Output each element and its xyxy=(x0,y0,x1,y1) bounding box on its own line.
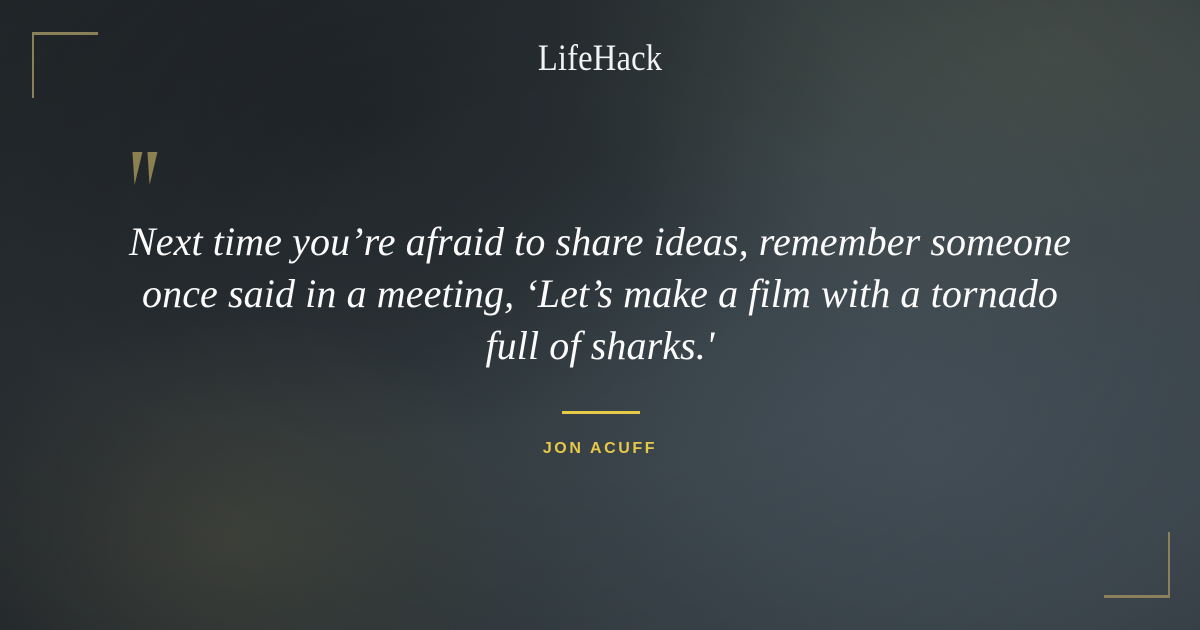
quote-line: once said in a meeting, ‘Let’s make a fi… xyxy=(100,268,1100,320)
quote-stroke-right xyxy=(145,152,158,185)
quote-line: full of sharks.' xyxy=(100,320,1100,372)
corner-bracket-horizontal-rule xyxy=(1104,595,1170,598)
corner-bracket-vertical-rule xyxy=(32,32,34,98)
corner-bracket-bottom-right-icon xyxy=(1104,532,1170,598)
corner-bracket-horizontal-rule xyxy=(32,32,98,35)
double-quote-icon xyxy=(131,152,165,190)
author-name: JON ACUFF xyxy=(0,440,1200,458)
brand-logo[interactable]: LifeHack xyxy=(72,40,1128,79)
quote-card: LifeHack Next time you’re afraid to shar… xyxy=(0,0,1200,630)
corner-bracket-vertical-rule xyxy=(1168,532,1170,598)
author-divider xyxy=(562,411,640,414)
quote-line: Next time you’re afraid to share ideas, … xyxy=(100,216,1100,268)
quote-text: Next time you’re afraid to share ideas, … xyxy=(100,216,1100,372)
quote-stroke-left xyxy=(130,152,143,185)
